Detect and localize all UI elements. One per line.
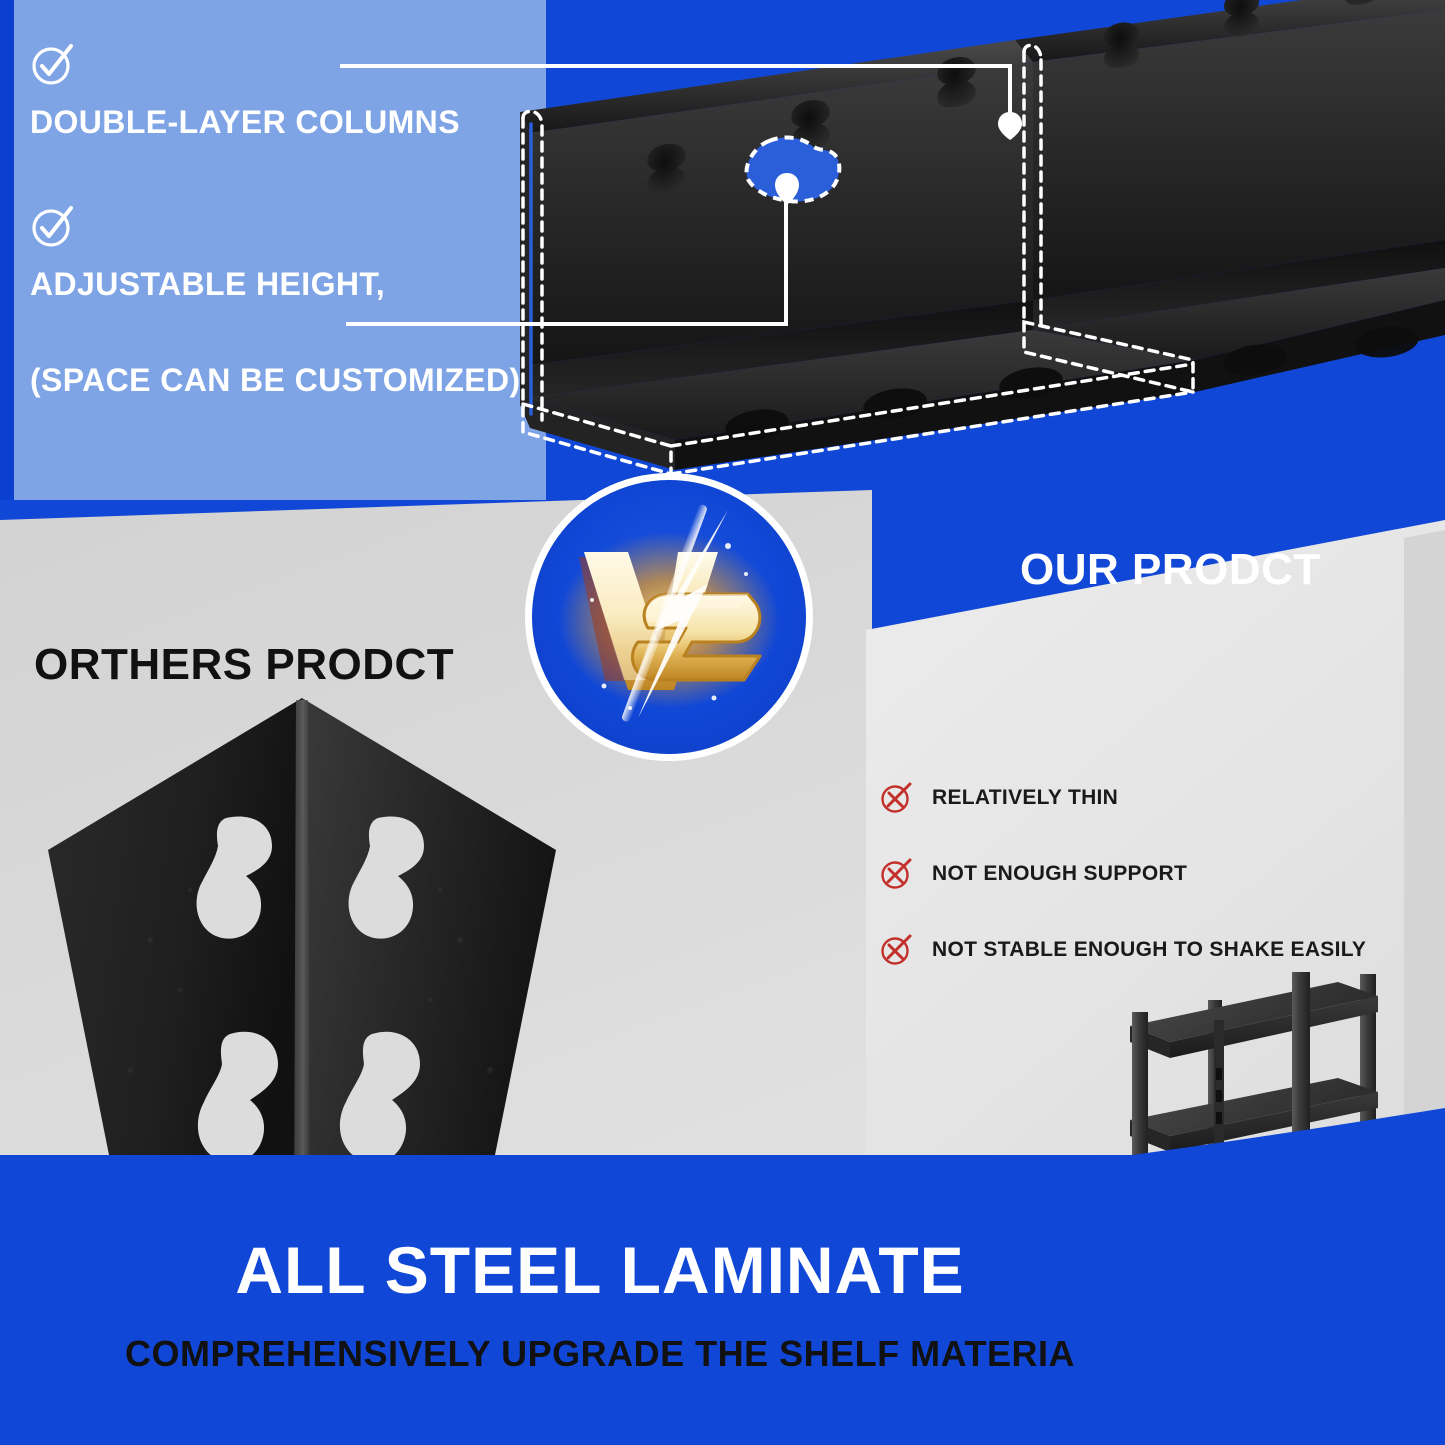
x-circle-icon bbox=[880, 782, 912, 814]
feature-bullet-3-label: (SPACE CAN BE CUSTOMIZED) bbox=[30, 362, 521, 399]
banner-subtitle: COMPREHENSIVELY UPGRADE THE SHELF MATERI… bbox=[0, 1333, 1200, 1375]
feature-bullet-1-label: DOUBLE-LAYER COLUMNS bbox=[30, 104, 460, 141]
cons-list-item: RELATIVELY THIN bbox=[880, 778, 1400, 818]
feature-bullet-2: ADJUSTABLE HEIGHT, bbox=[30, 204, 385, 303]
cons-list-item-label: NOT STABLE ENOUGH TO SHAKE EASILY bbox=[932, 938, 1366, 962]
check-circle-icon bbox=[30, 42, 76, 88]
x-circle-icon bbox=[880, 858, 912, 890]
cons-list-item: NOT ENOUGH SUPPORT bbox=[880, 854, 1400, 894]
left-accent-strip bbox=[0, 0, 14, 530]
vs-badge bbox=[525, 473, 813, 761]
feature-bullet-2-label: ADJUSTABLE HEIGHT, bbox=[30, 266, 385, 303]
check-circle-icon bbox=[30, 204, 76, 250]
cons-list-item-label: NOT ENOUGH SUPPORT bbox=[932, 862, 1187, 886]
our-product-heading: OUR PRODCT bbox=[1020, 545, 1321, 595]
cons-list-item-label: RELATIVELY THIN bbox=[932, 786, 1118, 810]
infographic-canvas: DOUBLE-LAYER COLUMNS ADJUSTABLE HEIGHT, … bbox=[0, 0, 1445, 1445]
feature-bullet-3: (SPACE CAN BE CUSTOMIZED) bbox=[30, 362, 521, 399]
feature-bullet-1: DOUBLE-LAYER COLUMNS bbox=[30, 42, 460, 141]
others-product-heading: ORTHERS PRODCT bbox=[34, 640, 454, 690]
banner-title: ALL STEEL LAMINATE bbox=[0, 1232, 1200, 1308]
x-circle-icon bbox=[880, 934, 912, 966]
steel-beam-photo bbox=[495, 0, 1445, 500]
